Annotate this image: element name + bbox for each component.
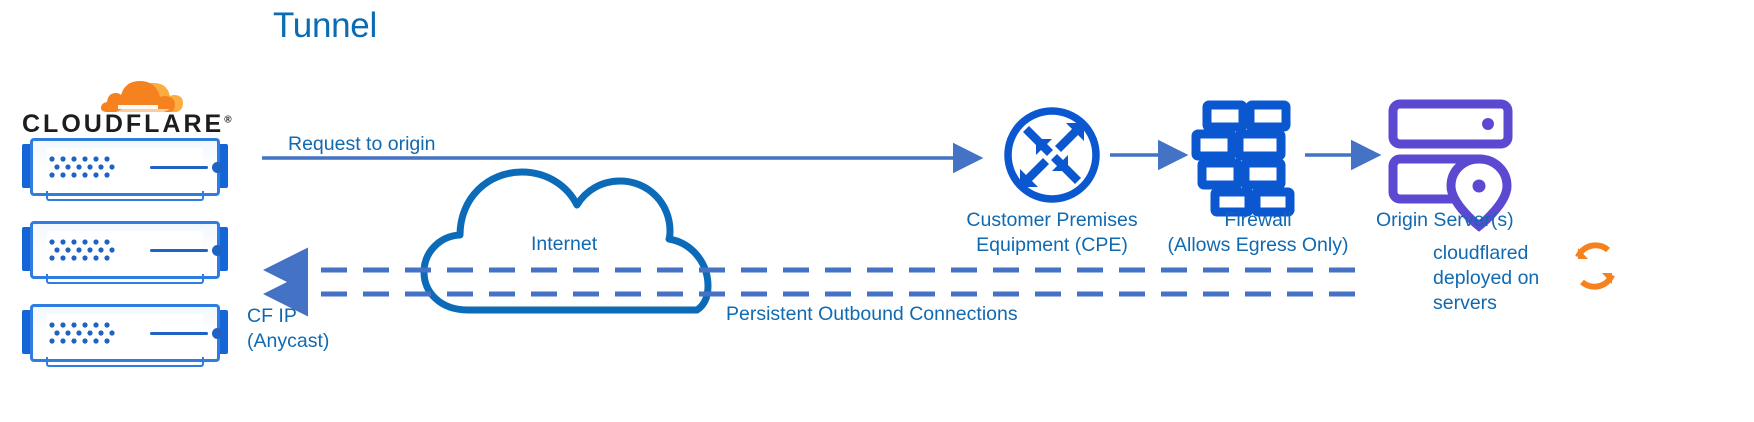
firewall-label-line1: Firewall	[1163, 208, 1353, 233]
cloudflared-label-line1: cloudflared	[1433, 241, 1528, 266]
cpe-label-line2: Equipment (CPE)	[948, 233, 1156, 258]
persistent-connections-label: Persistent Outbound Connections	[726, 302, 1018, 327]
cf-ip-label-line1: CF IP	[247, 304, 297, 329]
cloudflared-label-line3: servers	[1433, 291, 1497, 316]
sync-arrows-icon	[1578, 245, 1612, 286]
firewall-brick-wall-icon	[1196, 105, 1290, 212]
request-flow-label: Request to origin	[288, 132, 435, 157]
firewall-label-line2: (Allows Egress Only)	[1163, 233, 1353, 258]
cloudflared-label-line2: deployed on	[1433, 266, 1539, 291]
origin-server-label: Origin Server(s)	[1376, 208, 1514, 233]
internet-label: Internet	[531, 232, 597, 257]
cpe-label-line1: Customer Premises	[948, 208, 1156, 233]
cf-ip-label-line2: (Anycast)	[247, 329, 329, 354]
diagram-canvas: Tunnel CLOUDFLARE®	[0, 0, 1754, 422]
cpe-converging-arrows-circle-icon	[1008, 111, 1096, 199]
